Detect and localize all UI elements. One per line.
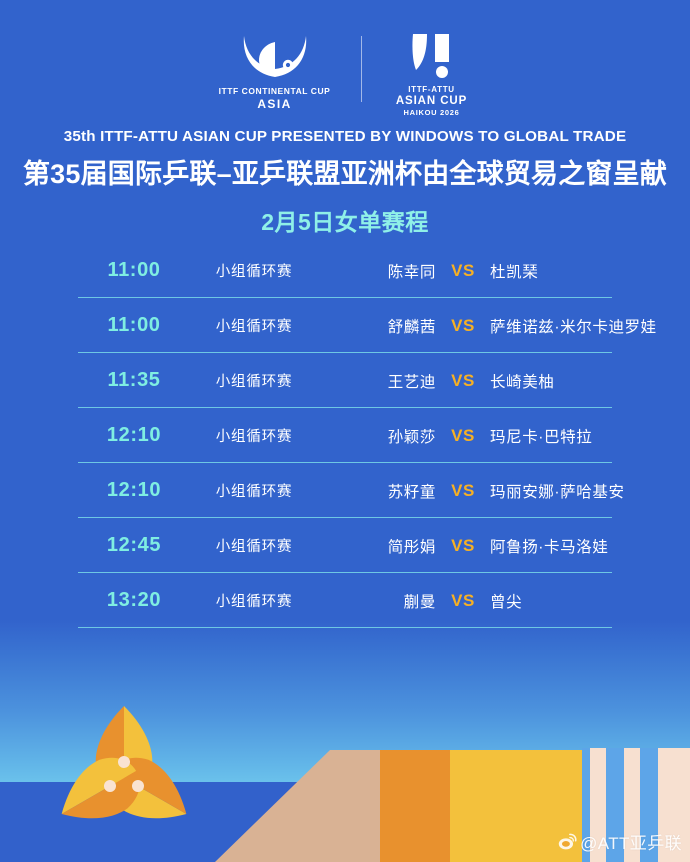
match-player-1: 陈幸同 xyxy=(318,260,436,282)
logo-row: ITTF CONTINENTAL CUP ASIA ITTF-ATTU ASIA… xyxy=(0,32,690,120)
subtitle-date: 2月5日女单赛程 xyxy=(0,203,690,237)
match-player-2: 阿鲁扬·卡马洛娃 xyxy=(490,535,612,557)
match-stage: 小组循环赛 xyxy=(190,315,318,336)
table-row: 12:10 小组循环赛 苏籽童 VS 玛丽安娜·萨哈基安 xyxy=(78,463,612,518)
vs-label: VS xyxy=(436,591,490,611)
match-stage: 小组循环赛 xyxy=(190,480,318,501)
watermark-text: @ATT亚乒联 xyxy=(580,829,682,854)
match-player-2: 长崎美柚 xyxy=(490,370,612,392)
title-english: 35th ITTF-ATTU ASIAN CUP PRESENTED BY WI… xyxy=(0,128,690,145)
continental-cup-mark-icon xyxy=(238,32,312,82)
match-stage: 小组循环赛 xyxy=(190,535,318,556)
logo-divider xyxy=(361,36,362,102)
match-stage: 小组循环赛 xyxy=(190,425,318,446)
match-player-1: 简彤娟 xyxy=(318,535,436,557)
vs-label: VS xyxy=(436,481,490,501)
table-row: 13:20 小组循环赛 蒯曼 VS 曾尖 xyxy=(78,573,612,628)
match-time: 11:00 xyxy=(78,314,190,337)
match-player-2: 萨维诺兹·米尔卡迪罗娃 xyxy=(490,315,657,337)
weibo-icon xyxy=(558,832,577,851)
table-row: 11:00 小组循环赛 陈幸同 VS 杜凯琹 xyxy=(78,243,612,298)
weibo-watermark: @ATT亚乒联 xyxy=(558,829,682,854)
match-player-1: 孙颖莎 xyxy=(318,425,436,447)
logo-left-caption-2: ASIA xyxy=(257,97,291,111)
match-stage: 小组循环赛 xyxy=(190,370,318,391)
poster-root: ITTF CONTINENTAL CUP ASIA ITTF-ATTU ASIA… xyxy=(0,0,690,862)
ittf-continental-cup-asia-logo: ITTF CONTINENTAL CUP ASIA xyxy=(211,32,339,111)
logo-right-caption-3: HAIKOU 2026 xyxy=(403,108,459,117)
schedule-table: 11:00 小组循环赛 陈幸同 VS 杜凯琹 11:00 小组循环赛 舒麟茜 V… xyxy=(78,243,612,628)
match-time: 11:35 xyxy=(78,369,190,392)
asian-cup-mark-icon xyxy=(410,32,454,80)
vs-label: VS xyxy=(436,371,490,391)
match-player-2: 玛尼卡·巴特拉 xyxy=(490,425,612,447)
vs-label: VS xyxy=(436,316,490,336)
match-player-2: 杜凯琹 xyxy=(490,260,612,282)
match-stage: 小组循环赛 xyxy=(190,590,318,611)
match-player-1: 蒯曼 xyxy=(318,590,436,612)
match-player-2: 玛丽安娜·萨哈基安 xyxy=(490,480,625,502)
match-time: 13:20 xyxy=(78,589,190,612)
table-row: 12:45 小组循环赛 简彤娟 VS 阿鲁扬·卡马洛娃 xyxy=(78,518,612,573)
logo-right-caption-2: ASIAN CUP xyxy=(396,95,467,107)
match-stage: 小组循环赛 xyxy=(190,260,318,281)
row-divider xyxy=(78,627,612,628)
table-row: 12:10 小组循环赛 孙颖莎 VS 玛尼卡·巴特拉 xyxy=(78,408,612,463)
title-chinese: 第35届国际乒联–亚乒联盟亚洲杯由全球贸易之窗呈献 xyxy=(0,152,690,191)
match-time: 12:10 xyxy=(78,424,190,447)
match-player-1: 王艺迪 xyxy=(318,370,436,392)
logo-right-caption-1: ITTF-ATTU xyxy=(408,85,455,94)
table-row: 11:35 小组循环赛 王艺迪 VS 长崎美柚 xyxy=(78,353,612,408)
match-player-1: 舒麟茜 xyxy=(318,315,436,337)
match-time: 12:10 xyxy=(78,479,190,502)
table-row: 11:00 小组循环赛 舒麟茜 VS 萨维诺兹·米尔卡迪罗娃 xyxy=(78,298,612,353)
vs-label: VS xyxy=(436,536,490,556)
vs-label: VS xyxy=(436,261,490,281)
match-player-2: 曾尖 xyxy=(490,590,612,612)
vs-label: VS xyxy=(436,426,490,446)
match-time: 11:00 xyxy=(78,259,190,282)
match-time: 12:45 xyxy=(78,534,190,557)
logo-left-caption-1: ITTF CONTINENTAL CUP xyxy=(219,86,331,96)
ittf-attu-asian-cup-logo: ITTF-ATTU ASIAN CUP HAIKOU 2026 xyxy=(384,32,480,117)
match-player-1: 苏籽童 xyxy=(318,480,436,502)
